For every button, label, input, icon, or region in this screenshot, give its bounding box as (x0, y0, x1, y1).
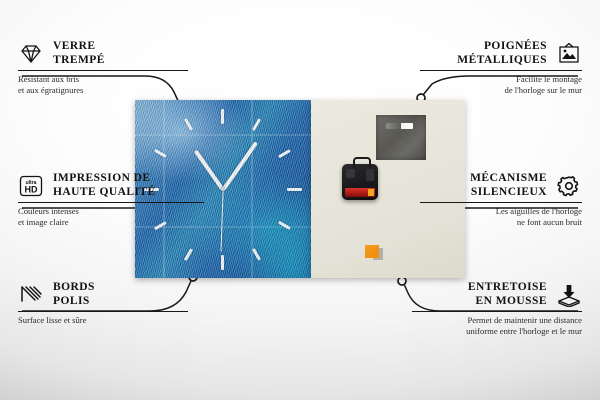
callout-mecanisme-silencieux: MÉCANISME SILENCIEUX Les aiguilles de l'… (420, 172, 582, 228)
callout-verre-trempe: VERRE TREMPÉ Résistant aux bris et aux é… (18, 40, 188, 96)
callout-title-line: POLIS (53, 295, 90, 307)
callout-title-line: TREMPÉ (53, 54, 105, 66)
callout-title-line: HAUTE QUALITÉ (53, 186, 156, 198)
callout-title-line: POIGNÉES (484, 40, 547, 52)
movement-hanger-tab (353, 157, 371, 168)
foam-spacer (365, 245, 379, 258)
callout-subtitle-line: Couleurs intenses (18, 206, 79, 216)
clock-tick (184, 118, 193, 131)
battery-plus-terminal (368, 189, 374, 196)
metal-hanger-plate (376, 115, 426, 160)
callout-rule (412, 311, 582, 312)
keyhole-slot (386, 123, 413, 129)
clock-tick (221, 109, 224, 124)
callout-entretoise-en-mousse: ENTRETOISE EN MOUSSE Permet de maintenir… (412, 281, 582, 337)
clock-tick (252, 248, 261, 261)
clock-minute-hand (222, 141, 258, 191)
callout-title-line: VERRE (53, 40, 96, 52)
callout-rule (18, 70, 188, 71)
clock-tick (154, 149, 167, 158)
callout-rule (18, 311, 188, 312)
foam-spacer-arrow-icon (556, 283, 582, 307)
picture-frame-hook-icon (556, 42, 582, 66)
callout-subtitle-line: Résistant aux bris (18, 74, 79, 84)
callout-bords-polis: BORDS POLIS Surface lisse et sûre (18, 281, 188, 326)
gear-icon (556, 174, 582, 198)
ultra-hd-icon: ultra HD (18, 174, 44, 198)
clock-tick (287, 188, 302, 191)
infographic-canvas: VERRE TREMPÉ Résistant aux bris et aux é… (0, 0, 600, 400)
callout-subtitle-line: de l'horloge sur le mur (505, 85, 582, 95)
callout-subtitle-line: Surface lisse et sûre (18, 315, 87, 325)
callout-rule (420, 202, 582, 203)
callout-title-line: MÉTALLIQUES (457, 54, 547, 66)
polished-edges-icon (18, 283, 44, 307)
clock-second-hand (220, 190, 223, 252)
clock-tick (252, 118, 261, 131)
callout-title-line: IMPRESSION DE (53, 172, 151, 184)
callout-poignees-metalliques: POIGNÉES MÉTALLIQUES Facilite le montage… (420, 40, 582, 96)
callout-impression-haute-qualite: ultra HD IMPRESSION DE HAUTE QUALITÉ Cou… (18, 172, 204, 228)
clock-center-pin (221, 187, 225, 191)
battery (345, 188, 375, 197)
callout-subtitle-line: ne font aucun bruit (517, 217, 582, 227)
callout-subtitle-line: et image claire (18, 217, 69, 227)
callout-subtitle-line: Permet de maintenir une distance (467, 315, 582, 325)
callout-subtitle-line: Facilite le montage (516, 74, 582, 84)
clock-tick (278, 221, 291, 230)
callout-title-line: ENTRETOISE (468, 281, 547, 293)
clock-tick (278, 149, 291, 158)
callout-title-line: BORDS (53, 281, 95, 293)
callout-rule (420, 70, 582, 71)
callout-subtitle-line: et aux égratignures (18, 85, 83, 95)
clock-tick (221, 255, 224, 270)
diamond-icon (18, 42, 44, 66)
callout-title-line: EN MOUSSE (476, 295, 547, 307)
clock-movement (342, 164, 378, 200)
callout-subtitle-line: Les aiguilles de l'horloge (496, 206, 582, 216)
connector-dot-entretoise (398, 277, 406, 285)
svg-text:HD: HD (25, 184, 38, 194)
clock-tick (184, 248, 193, 261)
callout-title-line: MÉCANISME (470, 172, 547, 184)
callout-title-line: SILENCIEUX (471, 186, 547, 198)
callout-subtitle-line: uniforme entre l'horloge et le mur (466, 326, 582, 336)
movement-detail (366, 169, 374, 181)
callout-rule (18, 202, 204, 203)
movement-detail (346, 169, 355, 178)
